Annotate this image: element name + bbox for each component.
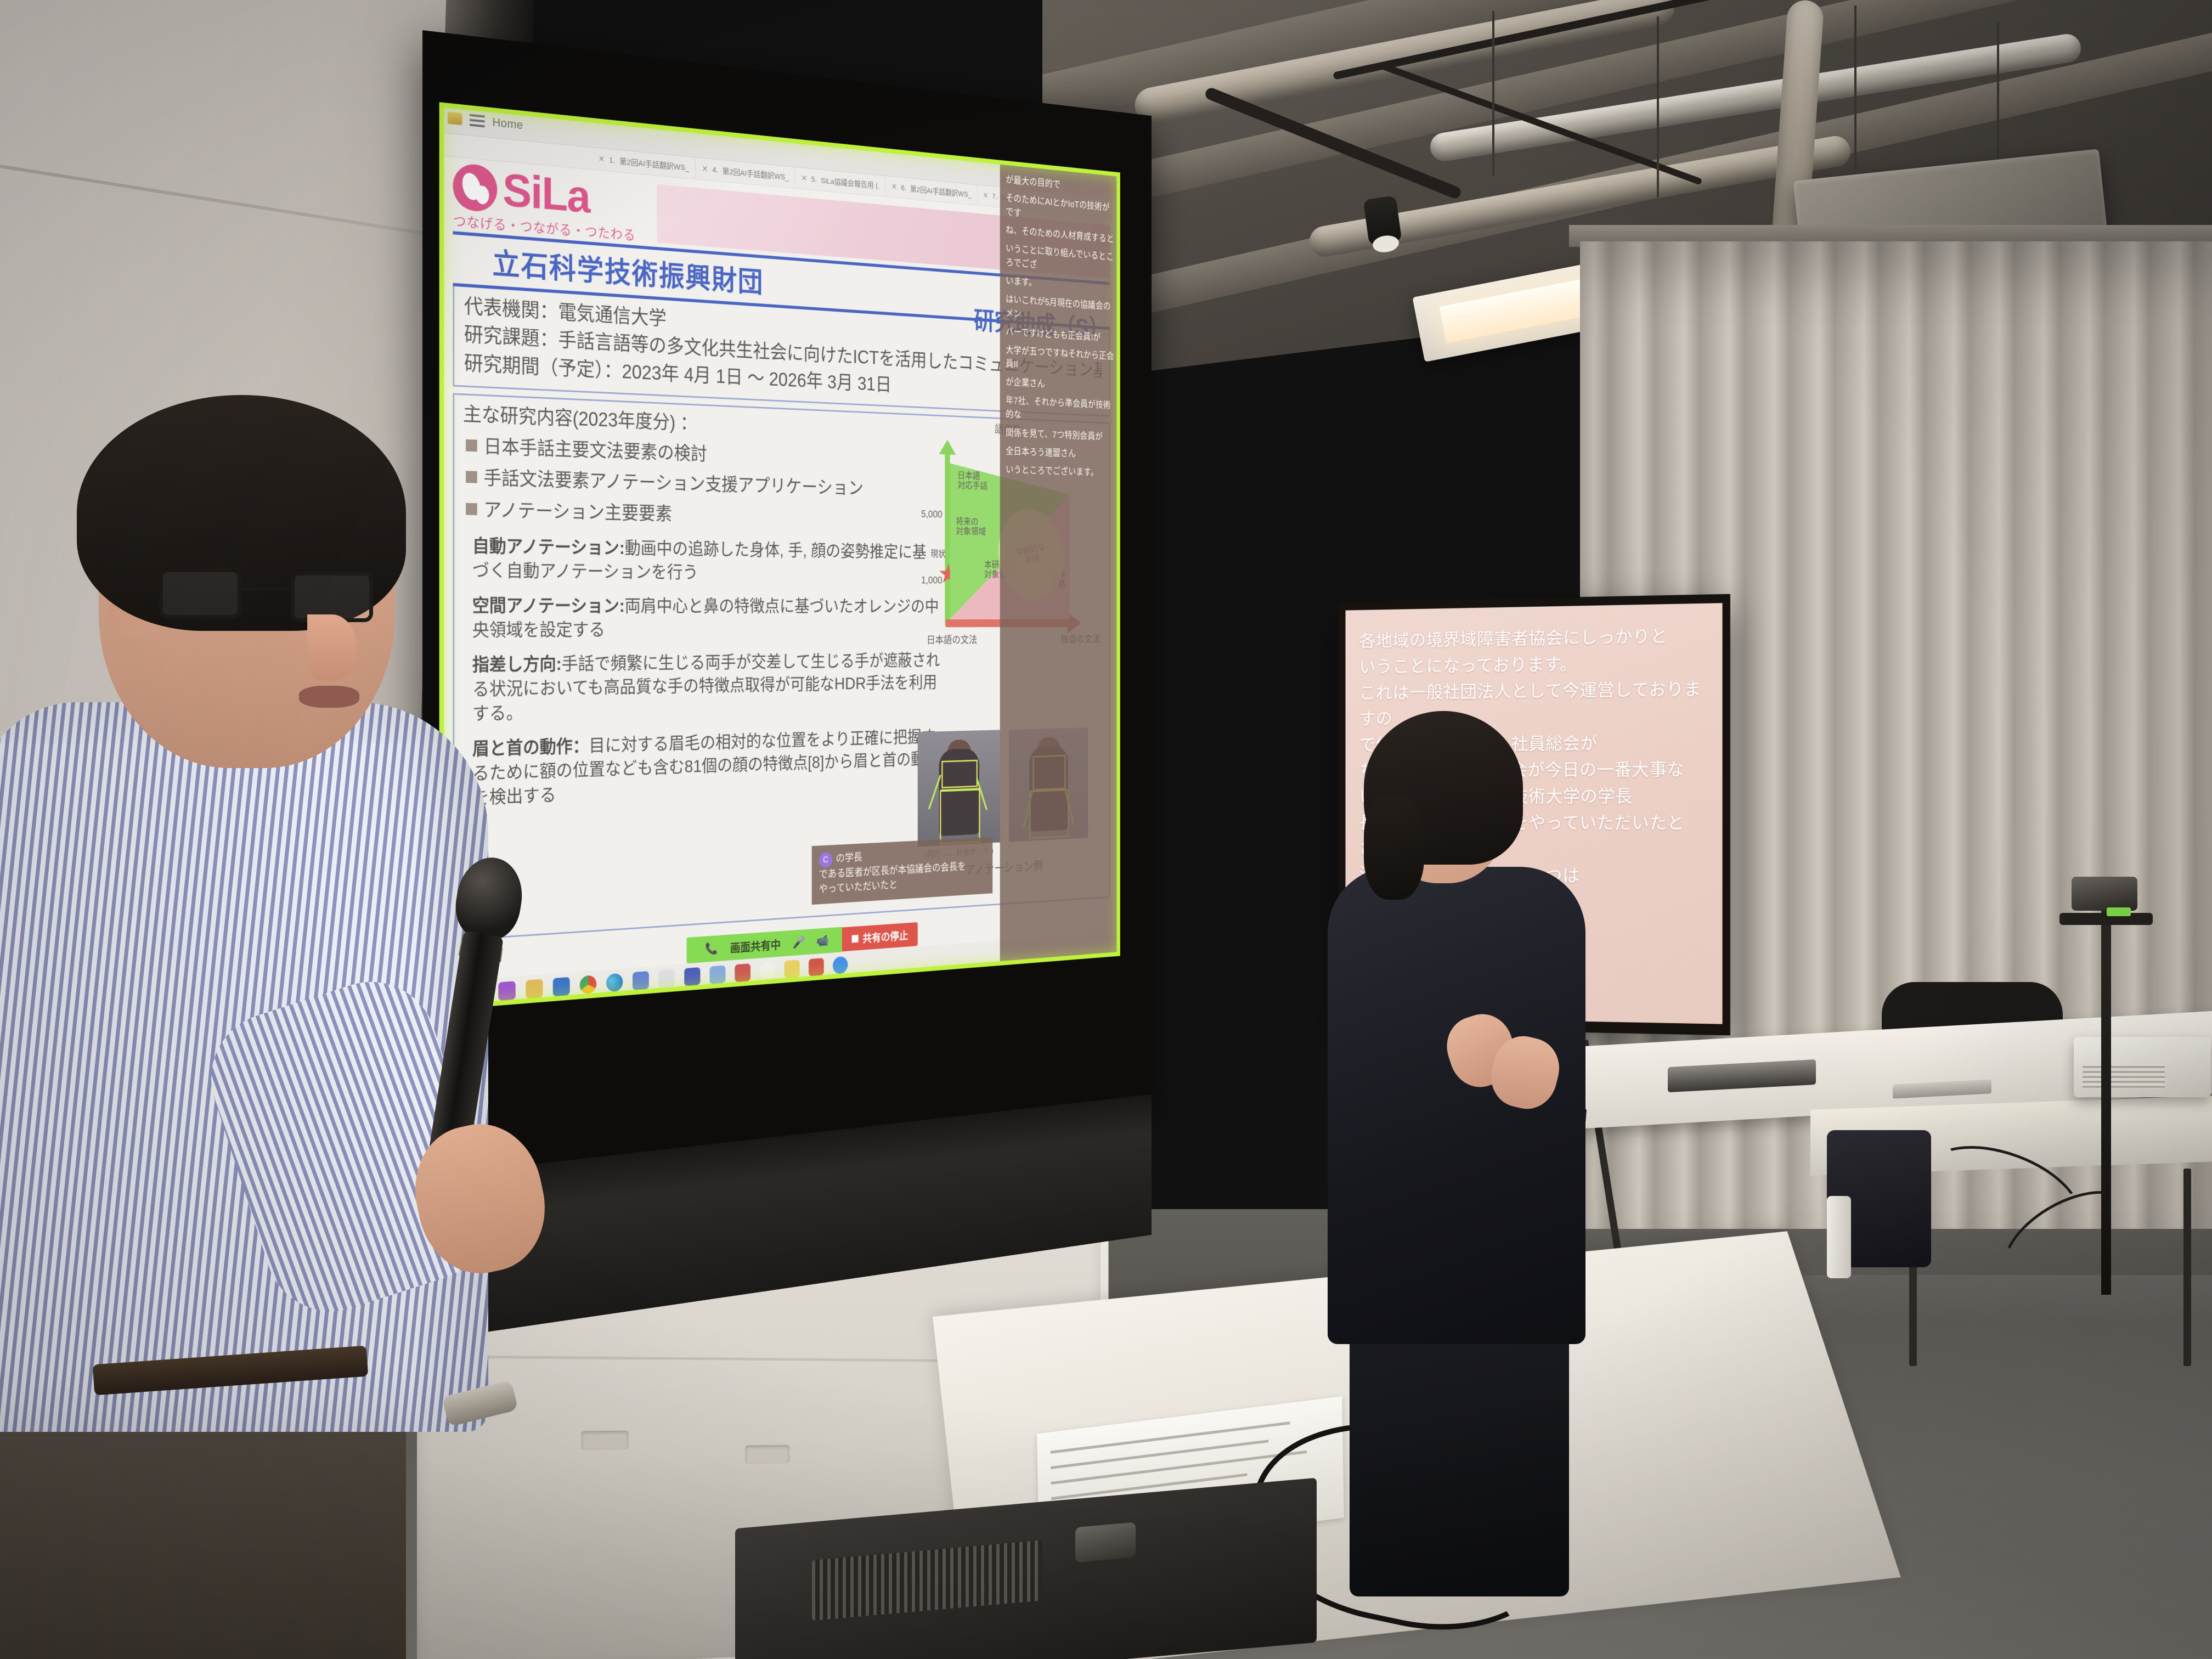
camera-status-light [2107,907,2131,916]
caption-line: 各地域の境界域障害者協会にしっかりと [1359,622,1707,654]
video-camera [2072,877,2137,911]
camera-icon[interactable]: 📹 [816,934,828,947]
tab-label: 第2回AI手話翻訳WS_ [619,155,689,173]
sila-logo: SiLa つなげる・つながる・つたわる [453,162,636,244]
microphone-icon[interactable]: 🎤 [792,935,805,950]
case-handle [1075,1522,1136,1563]
table-leg [2183,1169,2191,1366]
tab-index: 1. [609,155,615,165]
tab-label: 第2回AI手話翻訳WS_ [723,165,789,182]
presenter [0,422,549,1659]
close-icon[interactable]: ✕ [891,182,898,192]
close-icon[interactable]: ✕ [598,154,605,165]
glasses-bridge [241,587,292,591]
tab-index: 5. [811,175,817,184]
pose-skeleton-example-1 [918,730,1000,847]
caption-line: いうことに取り組んでいるところでござ [1006,242,1115,279]
y-tick-label: 5,000 [921,508,943,522]
projector [2074,1037,2211,1097]
live-caption-sidebar: が最大の目的で そのためにAIとかIoTの技術がです ね、そのための人材育成する… [1000,160,1120,966]
y-tick-label: 1,000 [921,574,943,588]
phone-icon: 📞 [705,941,718,956]
caption-line: います。 [1006,274,1115,296]
caption-line: が企業さん [1006,376,1115,396]
x-axis-label-left: 日本語の文法 [927,634,977,647]
clock-icon[interactable] [760,962,775,980]
notes-icon[interactable] [785,960,800,979]
stop-share-label: 共有の停止 [862,927,908,945]
caption-line: そのためにAIとかIoTの技術がです [1006,191,1115,229]
lens-left [159,568,241,619]
caption-line: バーですけどもも正会員Iが [1006,325,1115,346]
chip-line: の学長 [836,852,862,865]
skeleton-overlay [918,730,1000,847]
app-icon[interactable] [659,969,675,989]
hamburger-icon[interactable] [470,111,485,130]
case-vent-grid [812,1540,1042,1621]
future-target-label: 将来の対象領域 [956,516,986,537]
interpreter-hair-side [1364,795,1424,900]
edge-icon[interactable] [606,973,623,992]
interpreter-shirt [1328,867,1585,1344]
ceiling-hanger-rod-4 [1997,22,1999,181]
office-icon[interactable] [685,967,701,986]
presenter-nose [307,614,357,680]
caption-line: いうところでございます。 [1006,463,1115,481]
projector-vent [2083,1063,2165,1088]
zoom-icon[interactable] [833,956,848,974]
ceiling-hanger-rod-3 [1854,5,1857,170]
current-state-label: 現状 [930,549,946,560]
pdf-icon[interactable] [809,958,824,976]
zoom-participant-caption: Cの学長 である医者が区長が本協議会の会長を やっていただいたと [812,837,992,905]
room-scene: Home ✕ 1. 第2回AI手話翻訳WS_ ✕ 4. 第2回AI手話翻訳WS_… [0,0,2212,1659]
caption-line: 関係を見て、7つ特別会員が [1006,426,1115,444]
sharing-label: 画面共有中 [730,936,781,956]
caption-line: はいこれが5月現在の協議会のメン [1006,293,1115,328]
caption-line: 全日本ろう連盟さん [1006,445,1115,463]
avatar: C [819,852,832,868]
outlook-icon[interactable] [553,977,570,996]
brand-name: SiLa [503,169,590,219]
chrome-icon[interactable] [580,975,597,994]
close-icon[interactable]: ✕ [801,173,807,184]
region-label-green: 日本語対応手話 [957,470,988,491]
tab-index: 7. [992,192,997,201]
tab-label: SiLa協議会報告用 (. [821,175,879,191]
tab-index: 4. [712,165,718,174]
close-icon[interactable]: ✕ [983,190,988,201]
ceiling-hanger-rod-1 [1492,11,1494,176]
sign-language-interpreter [1311,730,1618,1339]
sila-circle-mark [453,162,498,213]
ceiling-spotlight [1363,195,1402,246]
settings-icon[interactable] [633,971,649,990]
caption-line: いうことになっております。 [1359,649,1707,680]
app-logo-icon [448,112,462,126]
presenter-mouth [299,686,359,708]
tab-index: 6. [901,183,906,192]
ceiling-hanger-rod-2 [1657,16,1659,198]
home-button[interactable]: Home [492,115,523,132]
water-bottle [1827,1196,1851,1278]
tab-label: 第2回AI手話翻訳WS_ [910,183,972,199]
caption-line: 大学が五つですねそれから正会員II [1006,343,1115,377]
share-icon[interactable] [735,963,751,982]
microphone-head [451,853,528,945]
close-icon[interactable]: ✕ [702,163,708,174]
media-icon[interactable] [710,966,726,984]
caption-line: 年7社、それから準会員が技術的な [1006,394,1115,427]
y-axis [945,452,950,625]
stop-square-icon [851,935,858,943]
